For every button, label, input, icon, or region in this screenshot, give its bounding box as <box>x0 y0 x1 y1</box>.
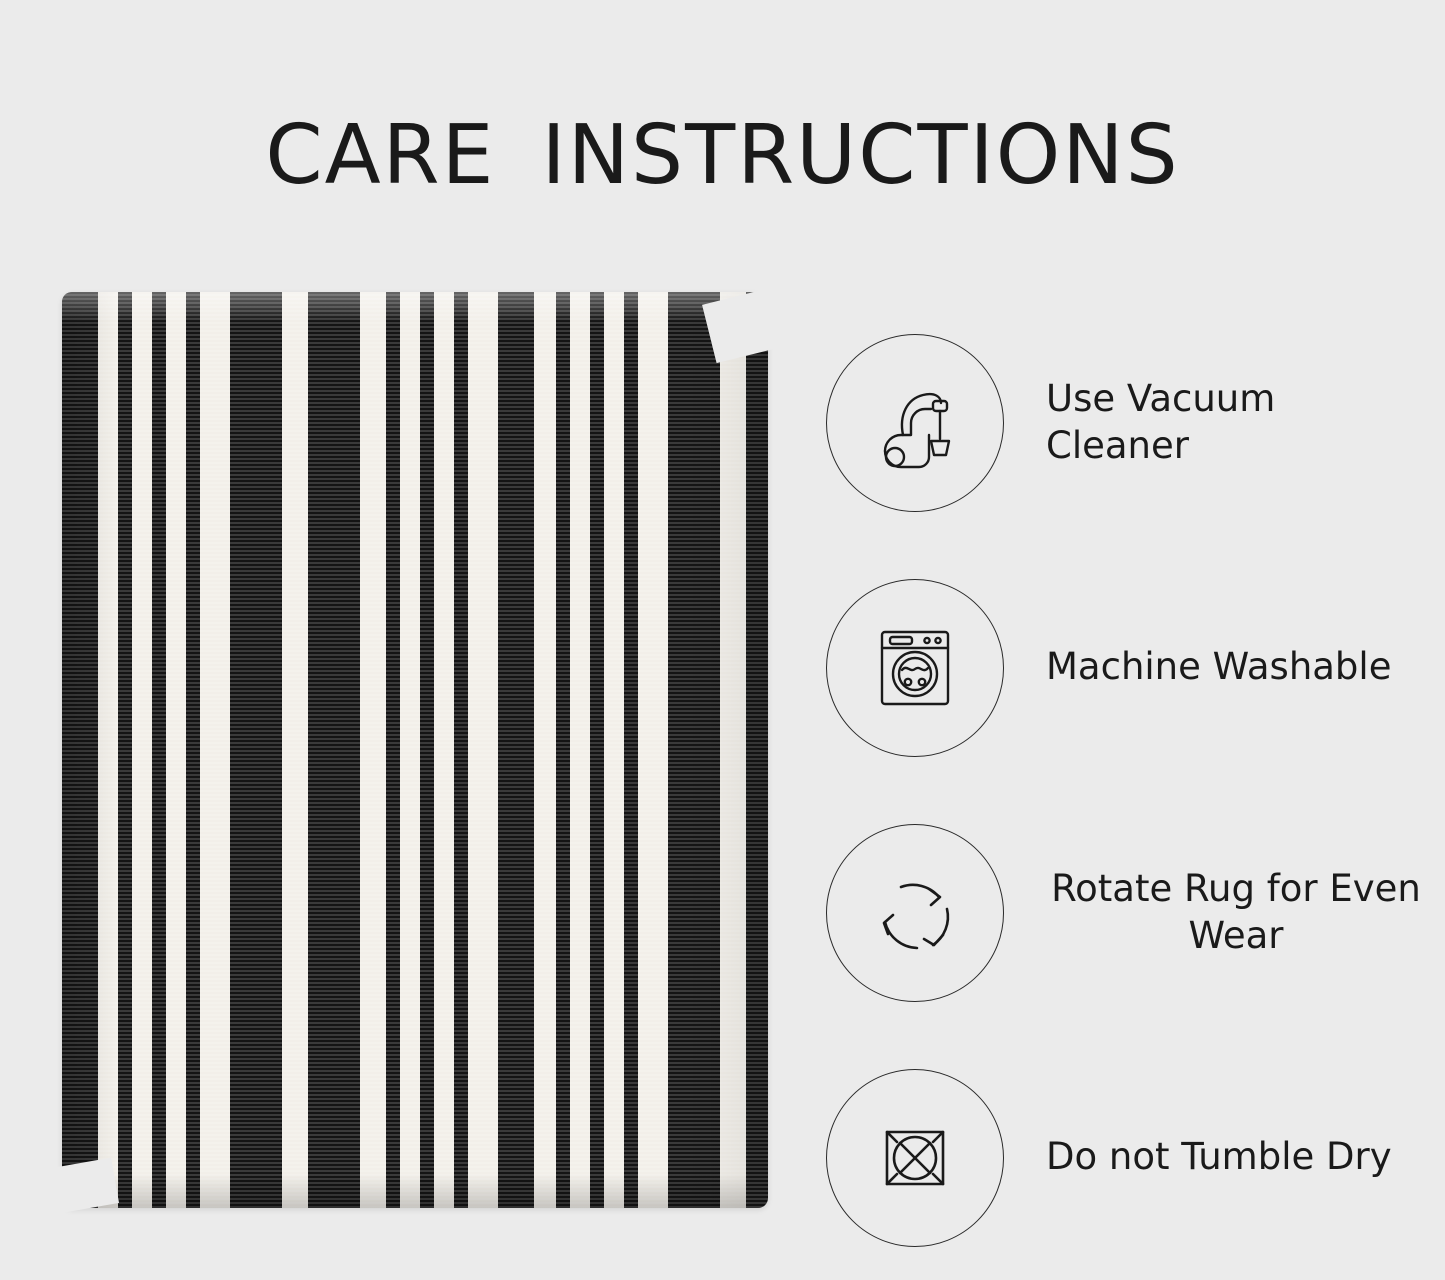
vacuum-cleaner-icon <box>826 334 1004 512</box>
do-not-tumble-dry-icon <box>826 1069 1004 1247</box>
instruction-label: Machine Washable <box>1046 644 1391 690</box>
instruction-row-vacuum: Use Vacuum Cleaner <box>826 300 1426 545</box>
instruction-row-no-tumble-dry: Do not Tumble Dry <box>826 1035 1426 1280</box>
folded-striped-rug <box>62 292 768 1208</box>
care-instructions-page: CARE INSTRUCTIONS <box>0 0 1445 1264</box>
instruction-label: Use Vacuum Cleaner <box>1046 376 1426 469</box>
rug-stripes <box>62 292 768 1208</box>
instruction-label: Rotate Rug for Even Wear <box>1046 866 1426 959</box>
product-image <box>62 292 768 1208</box>
instruction-list: Use Vacuum Cleaner Machine Washable <box>826 300 1426 1280</box>
instruction-row-machine-washable: Machine Washable <box>826 545 1426 790</box>
page-title: CARE INSTRUCTIONS <box>0 108 1445 203</box>
instruction-label: Do not Tumble Dry <box>1046 1134 1392 1180</box>
washing-machine-icon <box>826 579 1004 757</box>
instruction-row-rotate: Rotate Rug for Even Wear <box>826 790 1426 1035</box>
rotate-arrows-icon <box>826 824 1004 1002</box>
